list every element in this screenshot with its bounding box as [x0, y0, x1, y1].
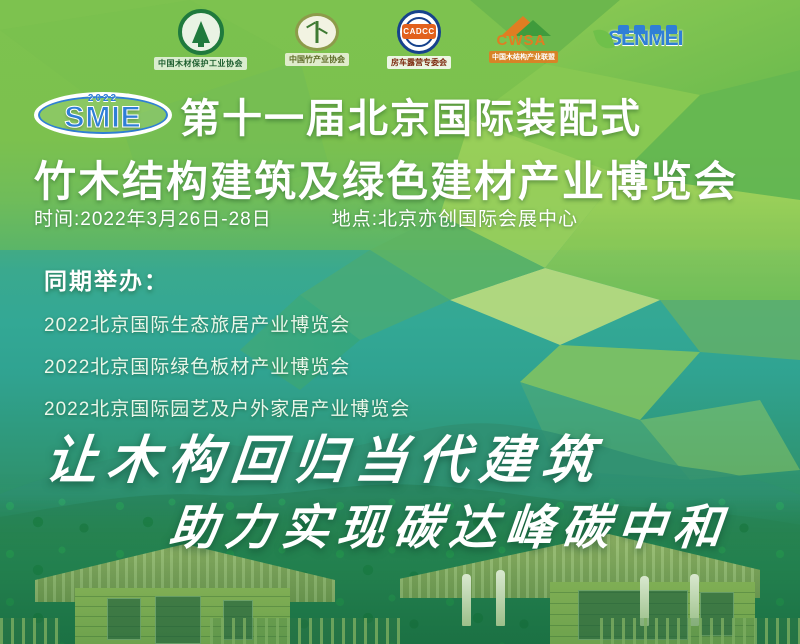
event-meta: 时间:2022年3月26日-28日 地点:北京亦创国际会展中心 — [34, 204, 578, 231]
bamboo-oval-icon — [295, 13, 339, 51]
smie-acronym: SMIE — [64, 101, 141, 135]
cadcc-badge-icon: CADCC — [397, 10, 441, 54]
sponsor-logo-strip: 中国木材保护工业协会 中国竹产业协会 CADCC 房车露营专委会 CWSA 中国… — [0, 0, 800, 78]
deck-railing — [210, 618, 400, 644]
leaf-icon: SENMEI — [596, 23, 706, 55]
slogan-line-2: 助力实现碳达峰碳中和 — [166, 488, 733, 558]
title-block: 2022 SMIE 第十一届北京国际装配式 竹木结构建筑及绿色建材产业博览会 — [0, 86, 800, 209]
sponsor-logo-senmei[interactable]: SENMEI — [596, 23, 706, 55]
event-date: 时间:2022年3月26日-28日 — [34, 204, 272, 231]
deck-railing — [600, 618, 800, 644]
page-title-line-2: 竹木结构建筑及绿色建材产业博览会 — [0, 148, 800, 209]
concurrent-item: 2022北京国际生态旅居产业博览会 — [44, 310, 410, 337]
sponsor-logo-china-timber-association[interactable]: 中国木材保护工业协会 — [154, 9, 247, 70]
sponsor-caption: 房车露营专委会 — [387, 56, 451, 69]
sponsor-acronym: CWSA — [497, 32, 547, 49]
expo-poster: 中国木材保护工业协会 中国竹产业协会 CADCC 房车露营专委会 CWSA 中国… — [0, 0, 800, 644]
concurrent-heading: 同期举办： — [44, 262, 410, 296]
sponsor-caption: 中国木结构产业联盟 — [489, 51, 558, 63]
concurrent-item: 2022北京国际绿色板材产业博览会 — [44, 352, 410, 379]
slogan-line-1: 让木构回归当代建筑 — [42, 418, 608, 493]
concurrent-events: 同期举办： 2022北京国际生态旅居产业博览会 2022北京国际绿色板材产业博览… — [44, 262, 410, 436]
event-venue: 地点:北京亦创国际会展中心 — [332, 204, 578, 231]
sponsor-logo-cadcc[interactable]: CADCC 房车露营专委会 — [387, 10, 451, 69]
deck-railing — [0, 618, 60, 644]
sponsor-caption: 中国木材保护工业协会 — [154, 57, 247, 70]
title-row-one: 2022 SMIE 第十一届北京国际装配式 — [0, 86, 800, 144]
sponsor-logo-cwsa[interactable]: CWSA 中国木结构产业联盟 — [489, 16, 558, 63]
concurrent-item: 2022北京国际园艺及户外家居产业博览会 — [44, 394, 410, 421]
tree-shield-icon — [178, 9, 224, 55]
sponsor-logo-bamboo-association[interactable]: 中国竹产业协会 — [285, 13, 349, 66]
patio-umbrella — [496, 570, 505, 626]
page-title-line-1: 第十一届北京国际装配式 — [180, 86, 642, 144]
house-roof-icon: CWSA — [493, 16, 555, 50]
sponsor-caption: 中国竹产业协会 — [285, 53, 349, 66]
smie-logo[interactable]: 2022 SMIE — [34, 92, 172, 138]
sponsor-acronym: CADCC — [402, 24, 436, 39]
patio-umbrella — [462, 574, 471, 626]
cabin-window — [107, 598, 141, 640]
cabin-door — [155, 596, 201, 644]
